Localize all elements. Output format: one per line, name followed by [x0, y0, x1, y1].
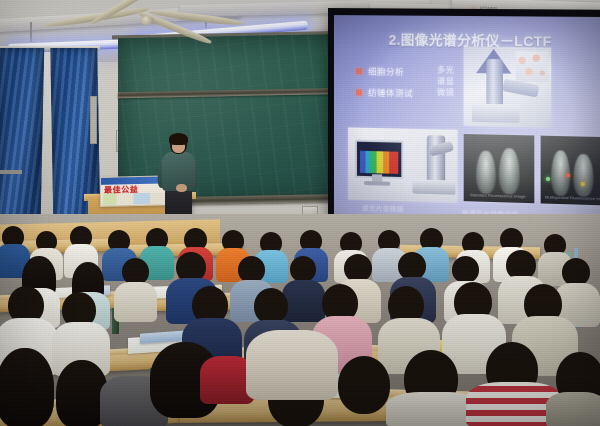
presenter-hair: [169, 133, 188, 145]
student-head: [338, 356, 390, 414]
cell-sample-image: [516, 51, 550, 82]
slide-image-microscope: [464, 46, 551, 127]
student-head: [398, 252, 426, 280]
student-torso: [246, 330, 338, 400]
mouse-subject: [573, 154, 593, 197]
mouse-subject: [499, 148, 520, 195]
slide-side-label-line: 谱显: [437, 76, 460, 88]
slide-side-label: 多光 谱显 微镜: [437, 64, 460, 98]
projection-screen: 2.图像光谱分析仪－LCTF 细胞分析 纺锤体测试 多光 谱显 微镜: [334, 15, 600, 225]
student-torso: [282, 280, 325, 322]
tile-subtext: Standard Fluorescence Image: [470, 192, 526, 199]
classroom-photo: POWER 2.图像光谱分析仪－LCTF 细胞分析 纺锤体测试: [0, 0, 600, 426]
student-head: [122, 258, 149, 285]
microscope-stage: [413, 179, 456, 194]
student-torso: [114, 282, 157, 322]
student-long-hair: [0, 348, 54, 426]
window-frame-bar: [0, 170, 22, 174]
monitor-screen: [355, 140, 403, 179]
wall-pillar-edge: [90, 96, 97, 144]
lamp-hanger: [30, 22, 32, 42]
presenter-hand: [176, 184, 187, 192]
student-head: [290, 256, 316, 282]
tile-subtext: Multispectral Fluorescence Image: [545, 194, 600, 201]
slide-caption-filter-microscope: 滤光片显微镜: [362, 202, 404, 213]
square-bullet-icon: [356, 68, 362, 74]
slide-bullet-item: 细胞分析: [356, 65, 413, 78]
slide-image-multispectral-fluorescence: Multispectral Fluorescence Image: [541, 136, 600, 206]
fluorescence-hotspot: [546, 177, 550, 181]
student-head: [254, 288, 288, 324]
student-torso: [546, 392, 600, 426]
monitor-foot: [364, 181, 390, 186]
slide-image-filter-microscope: [348, 127, 458, 203]
square-bullet-icon: [356, 89, 362, 95]
microscope-base: [472, 104, 520, 123]
student-head: [238, 256, 265, 283]
slide-bullet-list: 细胞分析 纺锤体测试: [356, 65, 413, 108]
slide-bullet-text: 细胞分析: [368, 66, 404, 79]
fluorescence-hotspot: [581, 182, 585, 186]
student-head: [344, 254, 372, 282]
student-head: [562, 258, 590, 286]
slide-bullet-item: 纺锤体测试: [356, 86, 413, 99]
slide-image-standard-fluorescence: Standard Fluorescence Image: [464, 134, 535, 203]
fluorescence-hotspot: [566, 173, 570, 177]
mouse-subject: [476, 151, 496, 194]
projection-screen-frame: 2.图像光谱分析仪－LCTF 细胞分析 纺锤体测试 多光 谱显 微镜: [328, 8, 600, 236]
microscope-body: [486, 59, 503, 106]
fan-hub: [140, 16, 154, 25]
student-head: [452, 256, 479, 283]
slide-side-label-line: 多光: [437, 64, 460, 75]
slide-bullet-text: 纺锤体测试: [368, 87, 413, 100]
slide-side-label-line: 微镜: [437, 87, 460, 99]
spectrum-plot: [360, 151, 398, 174]
